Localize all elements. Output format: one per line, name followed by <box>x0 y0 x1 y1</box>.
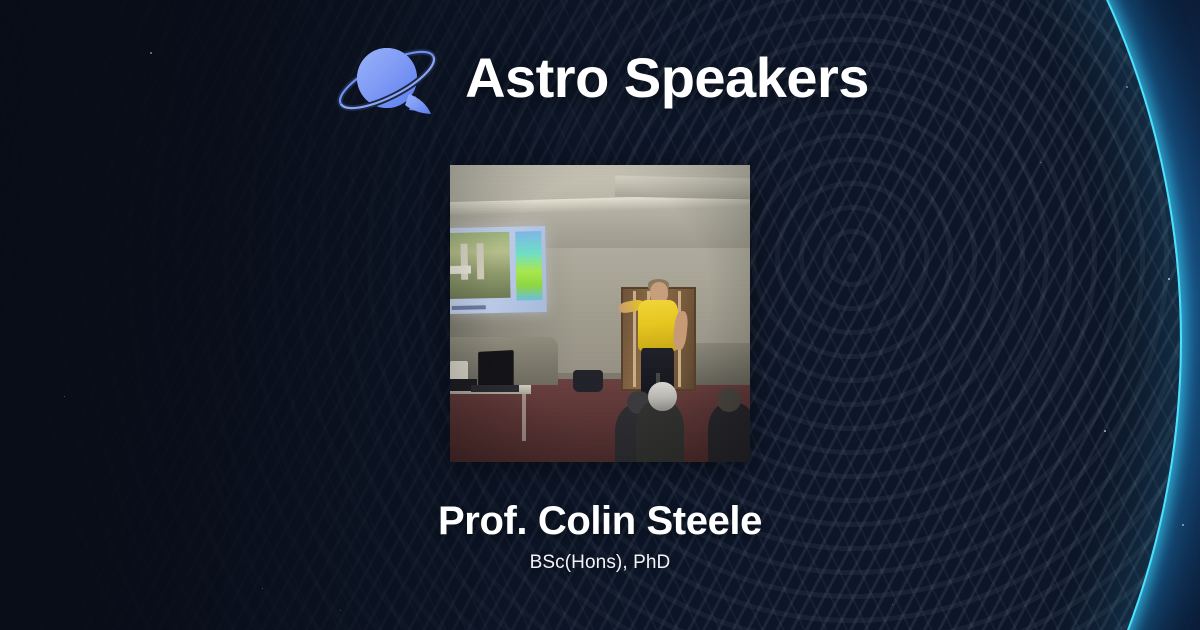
speaker-name-block: Prof. Colin Steele BSc(Hons), PhD <box>0 498 1200 574</box>
star <box>64 396 65 397</box>
star <box>1040 162 1041 163</box>
star <box>340 610 341 611</box>
photo-vignette <box>450 165 750 462</box>
speaker-credentials: BSc(Hons), PhD <box>0 552 1200 574</box>
star <box>262 588 263 589</box>
brand-header: Astro Speakers <box>0 34 1200 122</box>
speaker-photo <box>450 165 750 462</box>
saturn-planet-icon <box>331 34 443 122</box>
brand-title: Astro Speakers <box>465 50 869 106</box>
speaker-photo-scene <box>450 165 750 462</box>
star <box>1104 430 1106 432</box>
speaker-name: Prof. Colin Steele <box>0 498 1200 545</box>
star <box>892 604 893 605</box>
star <box>1168 278 1170 280</box>
